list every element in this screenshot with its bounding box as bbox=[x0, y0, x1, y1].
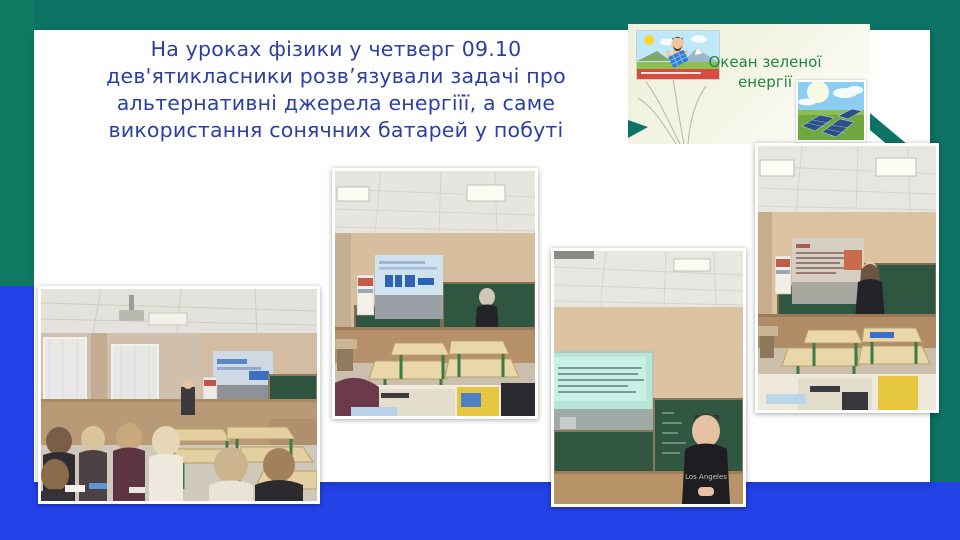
headline-line-2: дев'ятикласники розв’язували задачі про bbox=[56, 63, 616, 90]
logo-triangle-accent bbox=[628, 120, 648, 138]
photo-classroom-girl-presenting-at-screen bbox=[755, 143, 939, 413]
headline-line-4: використання сонячних батарей у побуті bbox=[56, 117, 616, 144]
logo-title-line-1: Океан зеленої bbox=[708, 53, 821, 71]
svg-text:Los Angeles: Los Angeles bbox=[685, 473, 727, 481]
project-logo-banner: Океан зеленої енергії bbox=[628, 24, 870, 144]
slide-headline: На уроках фізики у четверг 09.10 дев'яти… bbox=[56, 36, 616, 144]
presentation-slide: На уроках фізики у четверг 09.10 дев'яти… bbox=[0, 0, 960, 540]
solar-farm-photo-icon bbox=[796, 80, 866, 142]
left-blue-band bbox=[0, 286, 34, 540]
photo-classroom-projector-screen-student-standing bbox=[332, 168, 538, 419]
headline-line-1: На уроках фізики у четверг 09.10 bbox=[56, 36, 616, 63]
photo-classroom-boy-presenting-at-blackboard: Los Angeles bbox=[551, 248, 746, 507]
photo-classroom-students-watching-presentation bbox=[38, 286, 320, 504]
headline-line-3: альтернативні джерела енергіїї, а саме bbox=[56, 90, 616, 117]
left-teal-band bbox=[0, 0, 34, 296]
